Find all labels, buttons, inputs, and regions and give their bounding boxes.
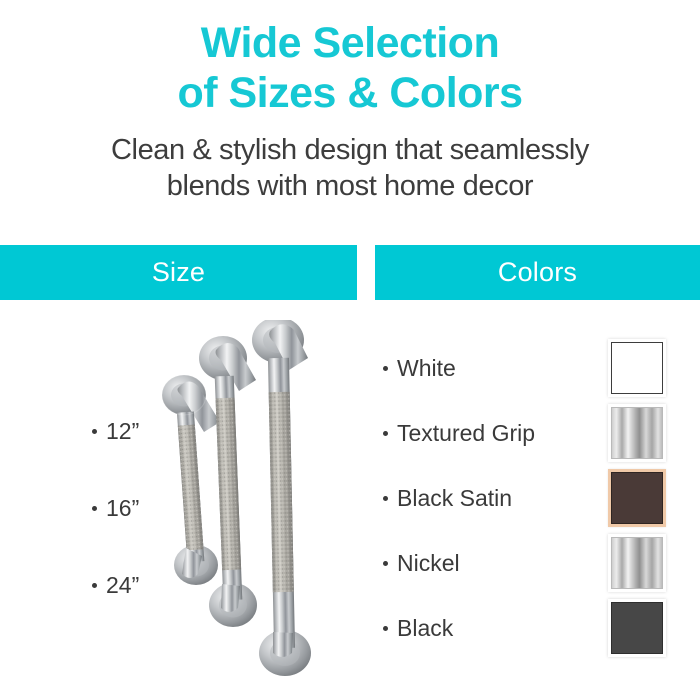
grab-bar-trio-illustration (160, 320, 350, 680)
color-swatch-white (611, 342, 663, 394)
list-item: White (375, 336, 700, 400)
headline-line-2: of Sizes & Colors (0, 68, 700, 118)
bullet-icon (383, 561, 388, 566)
headline-line-1: Wide Selection (201, 19, 499, 67)
colors-panel: White Textured Grip Black Satin Nickel B (375, 300, 700, 700)
page-subtitle: Clean & stylish design that seamlessly b… (0, 132, 700, 204)
color-item-label-black-satin: Black Satin (383, 485, 512, 511)
bullet-icon (92, 429, 97, 434)
bullet-icon (383, 496, 388, 501)
color-name: Nickel (397, 550, 460, 576)
subheadline-line-2: blends with most home decor (0, 168, 700, 204)
list-item: Black Satin (375, 466, 700, 530)
subheadline-line-1: Clean & stylish design that seamlessly (111, 134, 589, 166)
size-section-label: Size (152, 257, 205, 288)
color-swatch-textured-grip (611, 407, 663, 459)
grab-bar-product-image (160, 320, 350, 680)
colors-section-header: Colors (375, 245, 700, 300)
grab-bar-12in (162, 375, 220, 585)
color-name: Textured Grip (397, 420, 535, 446)
bullet-icon (92, 583, 97, 588)
color-item-label-nickel: Nickel (383, 550, 460, 576)
bullet-icon (92, 506, 97, 511)
size-section-header: Size (0, 245, 357, 300)
color-swatch-black (611, 602, 663, 654)
list-item: Textured Grip (375, 401, 700, 465)
size-panel: 12” 16” 24” (0, 300, 357, 700)
bullet-icon (383, 431, 388, 436)
color-name: White (397, 355, 456, 381)
color-item-label-white: White (383, 355, 456, 381)
list-item: Nickel (375, 531, 700, 595)
color-swatch-nickel (611, 537, 663, 589)
page-title: Wide Selection of Sizes & Colors (0, 18, 700, 118)
color-item-label-black: Black (383, 615, 453, 641)
size-item-label: 16” (106, 495, 139, 521)
bullet-icon (383, 366, 388, 371)
colors-section-label: Colors (498, 257, 577, 288)
product-feature-infographic: Wide Selection of Sizes & Colors Clean &… (0, 0, 700, 700)
grab-bar-24in (252, 320, 311, 676)
list-item: Black (375, 596, 700, 660)
size-item-label: 24” (106, 572, 139, 598)
color-name: Black Satin (397, 485, 512, 511)
grab-bar-16in (199, 336, 257, 627)
size-item-label: 12” (106, 418, 139, 444)
color-name: Black (397, 615, 453, 641)
bullet-icon (383, 626, 388, 631)
color-swatch-black-satin (611, 472, 663, 524)
headline-block: Wide Selection of Sizes & Colors Clean &… (0, 18, 700, 204)
color-item-label-textured-grip: Textured Grip (383, 420, 535, 446)
